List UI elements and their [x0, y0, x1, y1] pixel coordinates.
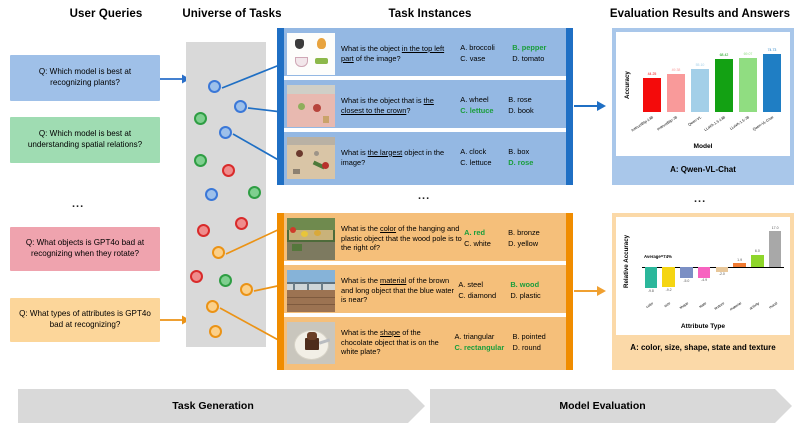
header-universe-of-tasks: Universe of Tasks — [152, 8, 312, 20]
arrow-blue-instances-to-results — [574, 95, 606, 117]
option-b: B. pointed — [513, 332, 546, 342]
user-query-text-3: Q: What objects is GPT4o bad at recogniz… — [18, 238, 152, 260]
option-c: C. diamond — [458, 291, 510, 301]
banner-arrow-tip-1 — [408, 389, 425, 423]
task-thumbnail-pier-railing — [287, 270, 335, 312]
chart-bar — [733, 263, 745, 267]
chart-bar — [667, 74, 685, 112]
chart-bar-value: -4.9 — [694, 278, 714, 282]
task-instance-row[interactable]: What is the color of the hanging and pla… — [284, 213, 566, 261]
task-question-text: What is the object that is the closest t… — [335, 96, 458, 116]
evaluation-panel-attribute: Relative AccuracyAverage=74%-9.8color-9.… — [612, 213, 794, 370]
task-instance-row[interactable]: What is the object that is the closest t… — [284, 80, 566, 128]
question-part-pre: What is the object — [341, 44, 402, 53]
task-thumbnail-beige-table-scene — [287, 137, 335, 179]
chart-bar-value: 74.73 — [760, 48, 784, 52]
banner-task-generation: Task Generation — [18, 389, 408, 423]
task-thumbnail-flower-market — [287, 218, 335, 260]
chart-bar-value: 49.38 — [664, 68, 688, 72]
task-options: A. broccoliB. pepper C. vaseD. tomato — [458, 43, 566, 63]
chart-bar-value: -2.0 — [712, 272, 732, 276]
question-part-post: of the image? — [354, 54, 401, 63]
question-part-underlined: material — [380, 276, 406, 285]
chart-ylabel: Relative Accuracy — [623, 235, 630, 288]
option-d: D. plastic — [510, 291, 540, 301]
user-query-box-4[interactable]: Q: What types of attributes is GPT4o bad… — [10, 298, 160, 342]
answer-text-model: A: Qwen-VL-Chat — [616, 165, 790, 175]
task-instances-ellipsis: ... — [418, 190, 430, 202]
chart-xlabel: Model — [616, 143, 790, 150]
chart-bar — [698, 267, 710, 277]
chart-bar — [662, 267, 674, 287]
option-d: D. yellow — [508, 239, 538, 249]
option-c: C. rectangular — [455, 343, 513, 353]
task-question-text: What is the object in the top left part … — [335, 44, 458, 64]
option-a: A. steel — [458, 280, 510, 290]
queries-ellipsis: ... — [72, 198, 84, 210]
task-question-text: What is the color of the hanging and pla… — [335, 224, 462, 254]
option-a: A. broccoli — [460, 43, 512, 53]
chart-bar-value: 6.0 — [747, 249, 767, 253]
accuracy-bar-chart: Accuracy44.25InstructBlip-13B49.38Instru… — [616, 32, 790, 156]
chart-bar-value: 55.10 — [688, 63, 712, 67]
option-b: B. rose — [508, 95, 531, 105]
task-instance-row[interactable]: What is the object in the top left part … — [284, 28, 566, 76]
chart-ylabel: Accuracy — [624, 71, 631, 99]
option-b: B. wood — [510, 280, 539, 290]
banner-arrow-tip-2 — [775, 389, 792, 423]
header-task-instances: Task Instances — [330, 8, 530, 20]
task-instances-panel-blue: What is the object in the top left part … — [277, 28, 573, 185]
chart-bar-value: 68.42 — [712, 53, 736, 57]
chart-bar-value: 69.07 — [736, 52, 760, 56]
user-query-text-1: Q: Which model is best at recognizing pl… — [18, 67, 152, 89]
arrow-orange-instances-to-results — [574, 280, 606, 302]
chart-bar-value: -9.2 — [658, 288, 678, 292]
chart-average-annotation: Average=74% — [644, 254, 672, 259]
chart-bar — [715, 59, 733, 112]
user-query-box-2[interactable]: Q: Which model is best at understanding … — [10, 117, 160, 163]
task-question-text: What is the material of the brown and lo… — [335, 276, 456, 306]
header-evaluation-results: Evaluation Results and Answers — [600, 8, 800, 20]
chart-bar — [769, 231, 781, 267]
task-instance-row[interactable]: What is the material of the brown and lo… — [284, 265, 566, 313]
question-part-pre: What is the — [341, 276, 380, 285]
question-part-pre: What is the object that is — [341, 96, 424, 105]
option-a: A. red — [464, 228, 508, 238]
question-part-underlined: shape — [380, 328, 400, 337]
task-thumbnail-pink-table-scene — [287, 85, 335, 127]
user-query-text-4: Q: What types of attributes is GPT4o bad… — [18, 309, 152, 331]
task-options: A. steelB. wood C. diamondD. plastic — [456, 280, 566, 300]
attribute-bar-chart: Relative AccuracyAverage=74%-9.8color-9.… — [616, 217, 790, 335]
task-question-text: What is the largest object in the image? — [335, 148, 458, 168]
answer-text-attributes: A: color, size, shape, state and texture — [616, 343, 790, 353]
results-ellipsis: ... — [694, 193, 706, 205]
banner-model-evaluation: Model Evaluation — [430, 389, 775, 423]
chart-bar-value: 1.9 — [729, 258, 749, 262]
task-thumbnail-objects-on-white — [287, 33, 335, 75]
option-a: A. clock — [460, 147, 508, 157]
option-d: D. rose — [508, 158, 533, 168]
chart-bar — [763, 54, 781, 112]
option-a: A. triangular — [455, 332, 513, 342]
task-instances-panel-orange: What is the color of the hanging and pla… — [277, 213, 573, 370]
option-d: D. book — [508, 106, 533, 116]
chart-bar — [739, 58, 757, 112]
chart-bar — [643, 78, 661, 112]
chart-xtick: color — [625, 301, 654, 322]
question-part-underlined: color — [380, 224, 396, 233]
option-d: D. round — [513, 343, 541, 353]
chart-bar — [645, 267, 657, 288]
question-part-post: ? — [406, 106, 410, 115]
banner-model-evaluation-label: Model Evaluation — [559, 400, 645, 412]
option-c: C. white — [464, 239, 508, 249]
option-c: C. lettuce — [460, 158, 508, 168]
user-query-box-1[interactable]: Q: Which model is best at recognizing pl… — [10, 55, 160, 101]
task-options: A. clockB. box C. lettuceD. rose — [458, 147, 566, 167]
chart-bar — [680, 267, 692, 278]
option-b: B. bronze — [508, 228, 540, 238]
option-c: C. vase — [460, 54, 512, 64]
question-part-pre: What is the — [341, 328, 380, 337]
chart-bar-value: 44.25 — [640, 72, 664, 76]
option-b: B. pepper — [512, 43, 546, 53]
user-query-text-2: Q: Which model is best at understanding … — [18, 129, 152, 151]
question-part-underlined: the largest — [368, 148, 403, 157]
banner-task-generation-label: Task Generation — [172, 400, 254, 412]
chart-bar-value: 17.0 — [765, 226, 785, 230]
option-b: B. box — [508, 147, 529, 157]
task-options: A. wheelB. rose C. lettuceD. book — [458, 95, 566, 115]
chart-xlabel: Attribute Type — [616, 323, 790, 330]
chart-bar — [691, 69, 709, 112]
chart-bar — [751, 255, 763, 268]
task-options: A. redB. bronze C. whiteD. yellow — [462, 228, 566, 248]
task-instance-row[interactable]: What is the shape of the chocolate objec… — [284, 317, 566, 365]
task-instance-row[interactable]: What is the largest object in the image?… — [284, 132, 566, 180]
task-question-text: What is the shape of the chocolate objec… — [335, 328, 453, 358]
question-part-pre: What is the — [341, 224, 380, 233]
task-options: A. triangularB. pointed C. rectangularD.… — [453, 332, 567, 352]
option-a: A. wheel — [460, 95, 508, 105]
option-c: C. lettuce — [460, 106, 508, 116]
task-thumbnail-chocolate-cake — [287, 322, 335, 364]
option-d: D. tomato — [512, 54, 544, 64]
evaluation-panel-accuracy: Accuracy44.25InstructBlip-13B49.38Instru… — [612, 28, 794, 185]
user-query-box-3[interactable]: Q: What objects is GPT4o bad at recogniz… — [10, 227, 160, 271]
question-part-pre: What is — [341, 148, 368, 157]
chart-bar — [716, 267, 728, 271]
